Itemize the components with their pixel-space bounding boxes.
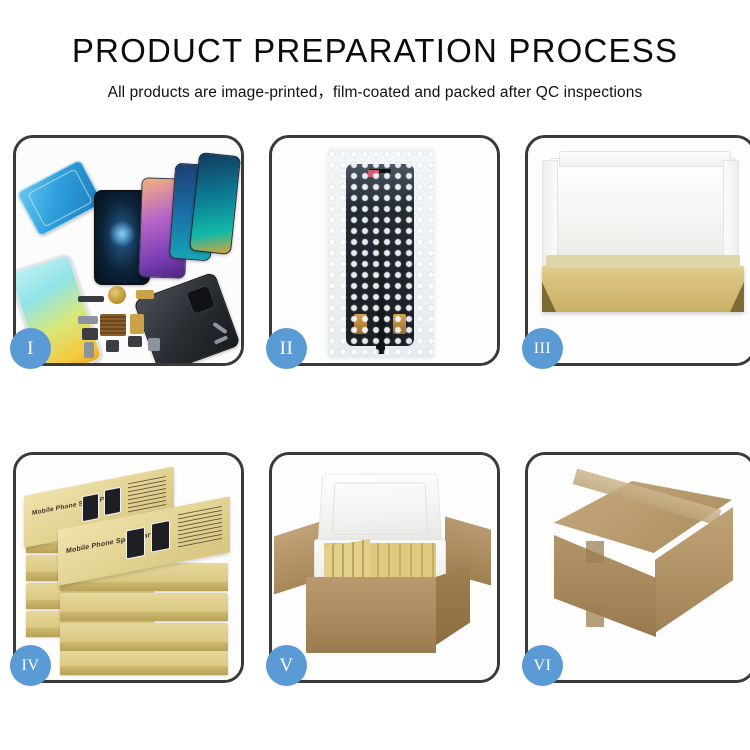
tray-corner-left-graphic [542,282,556,312]
step-1-image [16,138,241,363]
button-part-graphic [106,340,119,352]
battery-connector-graphic [130,314,144,334]
tray-corner-right-graphic [730,282,744,312]
vibrator-part-graphic [128,336,142,347]
carton-side-panel-graphic [436,565,470,645]
infographic-page: PRODUCT PREPARATION PROCESS All products… [0,0,750,750]
flex-cable-part-graphic [136,290,154,299]
step-badge-2: II [266,328,307,369]
step-3-image [528,138,750,363]
box-print-phone-image [126,527,145,560]
step-6-image [528,455,750,680]
speaker-part-graphic [108,286,126,304]
box-print-spec-text [178,506,222,551]
step-5-image [272,455,497,680]
sealed-carton-front-graphic [554,535,656,637]
phone-screen-teal-graphic [189,152,241,255]
page-subtitle: All products are image-printed，film-coat… [0,80,750,102]
sim-tray-graphic [84,342,94,358]
step-badge-3: III [522,328,563,369]
step-badge-4: IV [10,645,51,686]
step-2-image [272,138,497,363]
earpiece-part-graphic [78,296,104,302]
box-print-phone-image [151,520,170,553]
step-badge-5: V [266,645,307,686]
lid-flap-right-graphic [723,160,739,268]
screw-set-graphic [148,338,160,351]
box-print-phone-image [104,487,121,516]
step-badge-1: I [10,328,51,369]
carton-front-panel-graphic [306,577,436,653]
kraft-box-stack-item [60,651,228,675]
process-step-panel-6: VI [525,452,750,683]
box-print-phone-image [82,493,99,522]
page-title: PRODUCT PREPARATION PROCESS [0,34,750,69]
process-step-panel-5: V [269,452,500,683]
foam-lid-graphic [317,474,442,546]
header: PRODUCT PREPARATION PROCESS All products… [0,0,750,102]
connector-chip-graphic [100,314,126,336]
process-step-panel-4: Mobile Phone Spare Parts Mobile Phone Sp… [13,452,244,683]
camera-part-graphic [82,328,98,340]
kraft-box-stack-item [60,623,228,651]
bubble-wrap-bag-graphic [328,150,434,358]
bracket-part-graphic [78,316,98,324]
process-step-panel-3: III [525,135,750,366]
lid-flap-left-graphic [542,160,558,268]
process-step-grid: I II [13,135,737,683]
bubble-texture-graphic [328,150,434,358]
process-step-panel-1: I [13,135,244,366]
white-box-lid-graphic [550,158,736,270]
lcd-adhesive-frame-graphic [16,159,103,237]
kraft-box-tray-graphic [542,266,744,312]
step-badge-6: VI [522,645,563,686]
carton-seam-tab-upper [586,541,604,563]
kraft-box-stack-item [60,593,228,621]
process-step-panel-2: II [269,135,500,366]
step-4-image: Mobile Phone Spare Parts Mobile Phone Sp… [16,455,241,680]
carton-seam-tab-lower [586,605,604,627]
